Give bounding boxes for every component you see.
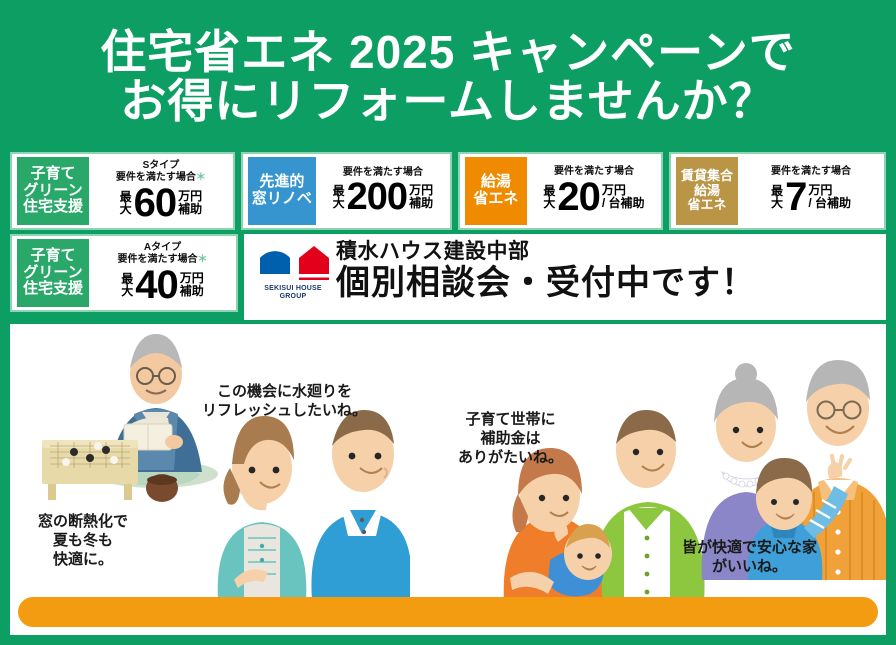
header-banner: 住宅省エネ 2025 キャンペーンで お得にリフォームしませんか？: [0, 0, 896, 148]
caption-line-1: この機会に水廻りを: [202, 382, 367, 401]
unit-bottom: 補助: [180, 285, 204, 298]
amount-row: 最 大 60 万円 補助: [94, 184, 228, 222]
tag-line-1: 賃貸集合: [681, 169, 733, 184]
tag-line-2: グリーン: [23, 183, 82, 200]
subsidy-type-label: Aタイプ: [118, 242, 208, 254]
subsidy-card-kyuto-shoene[interactable]: 給湯 省エネ 要件を満たす場合 最 大 20 万円 / 台補助: [458, 152, 663, 230]
subsidy-amount-value: 7: [785, 178, 806, 216]
sekisui-house-logo: SEKISUI HOUSE GROUP: [250, 236, 336, 301]
subsidy-condition: 要件を満たす場合: [771, 166, 851, 178]
amount-row: 最 大 200 万円 補助: [321, 179, 445, 215]
subsidy-amount-value: 60: [134, 184, 177, 222]
max-label: 最 大: [333, 185, 345, 209]
subsidy-type-label: Sタイプ: [116, 160, 206, 172]
caption-line-2: リフレッシュしたいね。: [202, 401, 367, 420]
subsidy-tag-chintai-kyuto: 賃貸集合 給湯 省エネ: [676, 157, 738, 225]
subsidy-tag-kyuto-shoene: 給湯 省エネ: [465, 157, 527, 225]
tag-line-2: グリーン: [23, 265, 82, 282]
max-label-bottom: 大: [543, 197, 555, 209]
illustration-scene: 窓の断熱化で 夏も冬も 快適に。 この機会に水廻りを リフレッシュしたいね。 子…: [10, 324, 886, 635]
main-headline: 個別相談会・受付中です！: [336, 264, 756, 302]
second-row: 子育て グリーン 住宅支援 Aタイプ 要件を満たす場合＊ 最 大 40 万円: [10, 234, 886, 320]
caption-water-refresh: この機会に水廻りを リフレッシュしたいね。: [202, 382, 367, 420]
amount-row: 最 大 20 万円 / 台補助: [532, 178, 656, 216]
caption-line-1: 子育て世帯に: [458, 410, 563, 429]
logo-wordmark-line1: SEKISUI HOUSE: [264, 285, 321, 293]
banner-title-line2: お得にリフォームしませんか？: [120, 77, 775, 126]
tag-line-3: 住宅支援: [23, 281, 83, 298]
tag-line-1: 子育て: [30, 248, 75, 265]
caption-comfortable-home: 皆が快適で安心な家 がいいね。: [682, 538, 817, 576]
banner-title-line1: 住宅省エネ 2025 キャンペーンで: [100, 28, 796, 77]
figure-elderly-man-kimono: [38, 324, 218, 514]
unit-bottom: 補助: [178, 203, 202, 216]
subsidy-amount-block: Aタイプ 要件を満たす場合＊ 最 大 40 万円 補助: [94, 242, 231, 304]
caption-line-2: 補助金は: [458, 429, 563, 448]
poster-root: 住宅省エネ 2025 キャンペーンで お得にリフォームしませんか？ 子育て グリ…: [0, 0, 896, 645]
subsidy-tag-mado-renove: 先進的 窓リノベ: [248, 157, 316, 225]
caption-line-2: 夏も冬も: [38, 531, 128, 550]
amount-row: 最 大 40 万円 補助: [94, 266, 231, 304]
subsidy-amount-value: 200: [347, 179, 407, 215]
sekisui-red-house-icon: [297, 244, 331, 282]
caption-window-insulation: 窓の断熱化で 夏も冬も 快適に。: [38, 512, 128, 570]
subsidy-card-kosodate-s[interactable]: 子育て グリーン 住宅支援 Sタイプ 要件を満たす場合＊ 最 大 60 万円: [10, 152, 235, 230]
caption-childcare-subsidy: 子育て世帯に 補助金は ありがたいね。: [458, 410, 563, 468]
subsidy-amount-block: 要件を満たす場合 最 大 200 万円 補助: [321, 167, 445, 215]
subsidy-amount-block: 要件を満たす場合 最 大 20 万円 / 台補助: [532, 166, 656, 216]
unit-bottom: / 台補助: [602, 197, 645, 210]
tag-line-2: 省エネ: [473, 191, 518, 208]
company-name: 積水ハウス建設中部: [336, 240, 756, 263]
max-label: 最 大: [543, 185, 555, 209]
sekisui-blue-fan-icon: [256, 244, 294, 282]
max-label-bottom: 大: [120, 203, 132, 215]
max-label: 最 大: [121, 273, 133, 297]
subsidy-card-chintai-kyuto[interactable]: 賃貸集合 給湯 省エネ 要件を満たす場合 最 大 7 万円 / 台補助: [669, 152, 886, 230]
logo-wordmark: SEKISUI HOUSE GROUP: [264, 285, 321, 301]
subsidy-unit: 万円 / 台補助: [602, 184, 645, 211]
caption-line-2: がいいね。: [682, 557, 817, 576]
unit-bottom: 補助: [409, 197, 433, 210]
asterisk-mark: ＊: [196, 172, 206, 183]
tag-line-1: 子育て: [30, 166, 75, 183]
tag-line-1: 先進的: [259, 174, 304, 191]
subsidy-amount-block: Sタイプ 要件を満たす場合＊ 最 大 60 万円 補助: [94, 160, 228, 222]
max-label-bottom: 大: [333, 197, 345, 209]
max-label-bottom: 大: [771, 197, 783, 209]
tag-line-3: 住宅支援: [23, 199, 83, 216]
amount-row: 最 大 7 万円 / 台補助: [743, 178, 879, 216]
subsidy-amount-block: 要件を満たす場合 最 大 7 万円 / 台補助: [743, 166, 879, 216]
tag-line-3: 省エネ: [688, 198, 727, 213]
subsidy-unit: 万円 補助: [409, 184, 433, 211]
subsidy-unit: 万円 補助: [178, 190, 202, 217]
max-label: 最 大: [771, 185, 783, 209]
caption-line-1: 皆が快適で安心な家: [682, 538, 817, 557]
caption-line-1: 窓の断熱化で: [38, 512, 128, 531]
brand-panel: SEKISUI HOUSE GROUP 積水ハウス建設中部 個別相談会・受付中で…: [244, 234, 886, 320]
floor-bar: [18, 597, 878, 627]
brand-text-block: 積水ハウス建設中部 個別相談会・受付中です！: [336, 236, 756, 302]
subsidy-tag-kosodate-green: 子育て グリーン 住宅支援: [17, 157, 89, 225]
subsidy-unit: 万円 補助: [180, 272, 204, 299]
subsidy-tag-kosodate-green-a: 子育て グリーン 住宅支援: [17, 239, 89, 307]
subsidy-amount-value: 20: [557, 178, 600, 216]
subsidy-card-mado-renove[interactable]: 先進的 窓リノベ 要件を満たす場合 最 大 200 万円 補助: [241, 152, 452, 230]
subsidy-unit: 万円 / 台補助: [808, 184, 851, 211]
unit-bottom: / 台補助: [808, 197, 851, 210]
caption-line-3: ありがたいね。: [458, 448, 563, 467]
logo-marks: [256, 242, 331, 282]
subsidy-amount-value: 40: [135, 266, 178, 304]
caption-line-3: 快適に。: [38, 550, 128, 569]
tag-line-1: 給湯: [481, 174, 511, 191]
subsidy-condition-text: 要件を満たす場合: [771, 166, 851, 177]
subsidy-cards-row: 子育て グリーン 住宅支援 Sタイプ 要件を満たす場合＊ 最 大 60 万円: [10, 152, 886, 230]
tag-line-2: 給湯: [694, 184, 720, 199]
asterisk-mark: ＊: [198, 254, 208, 265]
logo-wordmark-line2: GROUP: [264, 293, 321, 301]
tag-line-2: 窓リノベ: [252, 191, 312, 208]
max-label-bottom: 大: [121, 285, 133, 297]
subsidy-card-kosodate-a[interactable]: 子育て グリーン 住宅支援 Aタイプ 要件を満たす場合＊ 最 大 40 万円: [10, 234, 238, 312]
max-label: 最 大: [120, 191, 132, 215]
